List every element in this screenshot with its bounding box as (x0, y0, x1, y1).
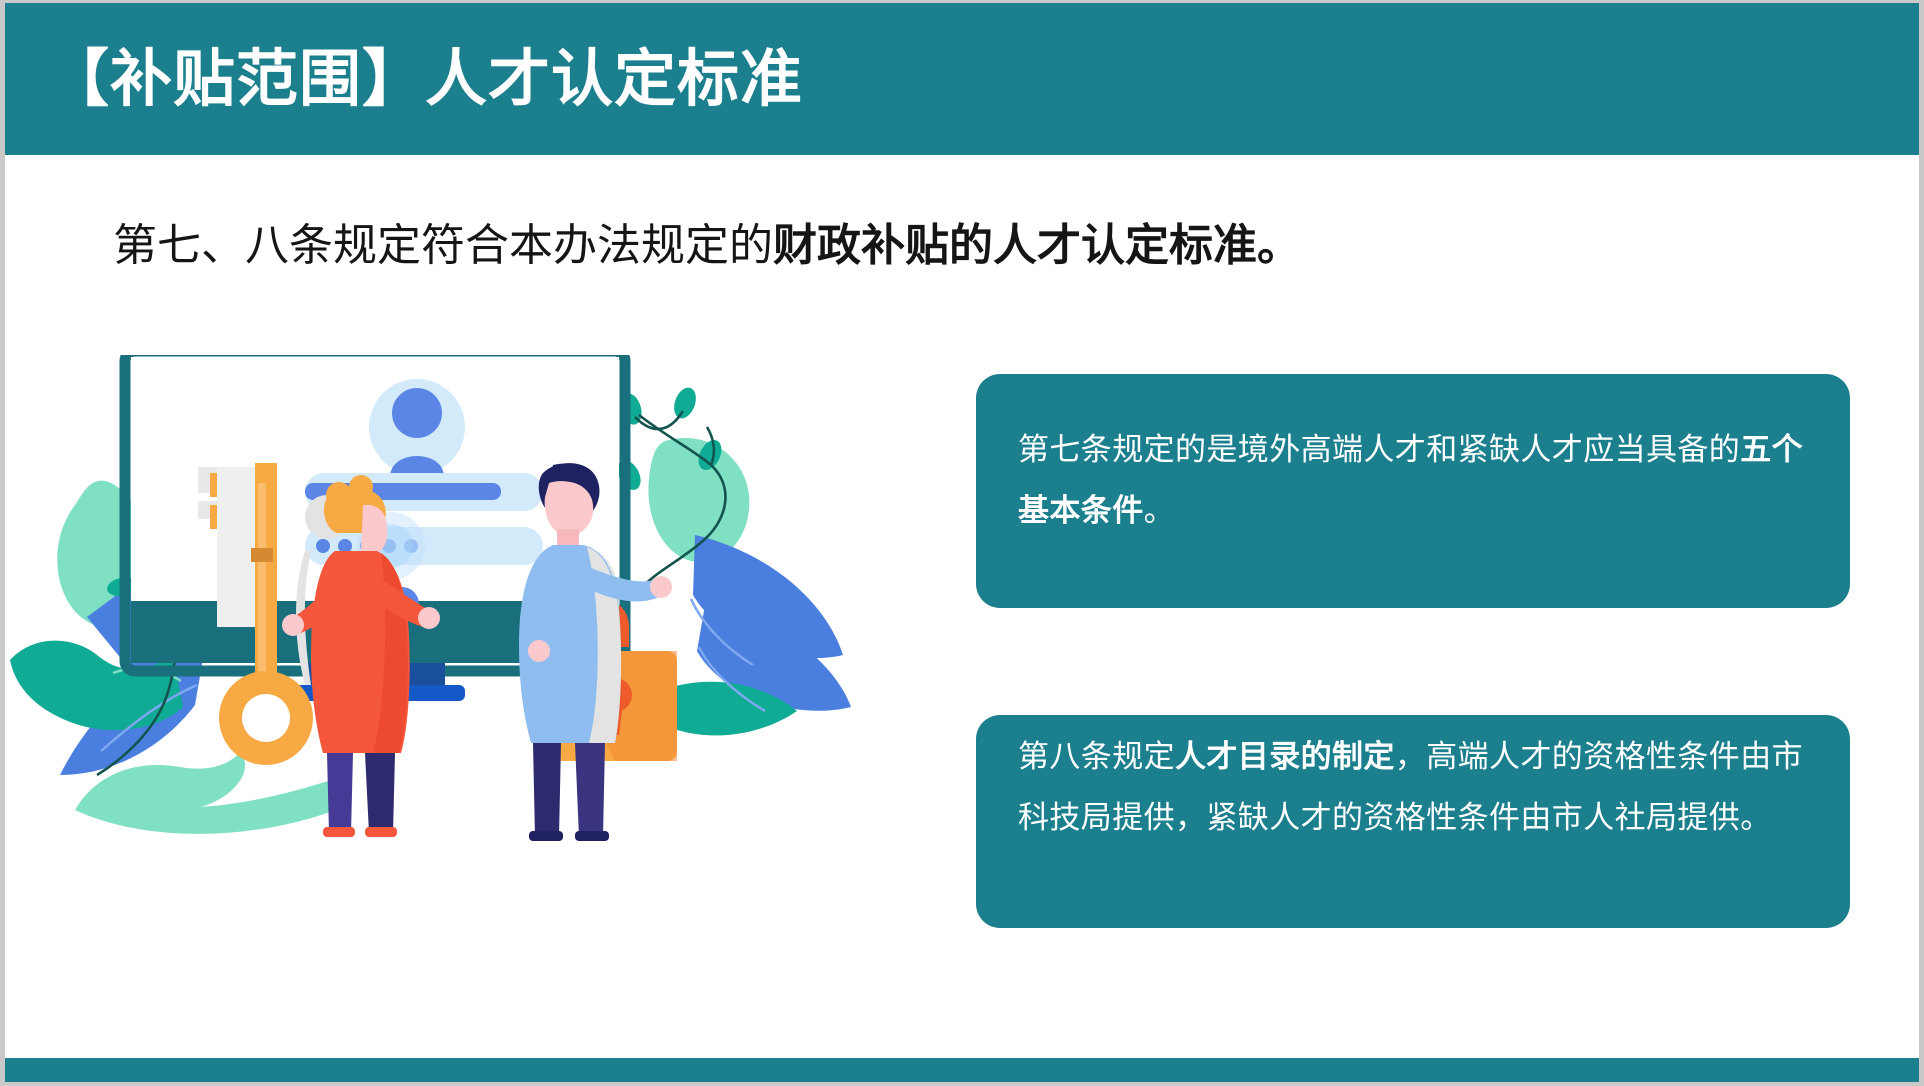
info-card-article-seven: 第七条规定的是境外高端人才和紧缺人才应当具备的五个基本条件。 (976, 374, 1850, 608)
info-card-article-eight: 第八条规定人才目录的制定，高端人才的资格性条件由市科技局提供，紧缺人才的资格性条… (976, 715, 1850, 928)
info-card-two-text: 第八条规定人才目录的制定，高端人才的资格性条件由市科技局提供，紧缺人才的资格性条… (1018, 727, 1808, 849)
info-card-one-text: 第七条规定的是境外高端人才和紧缺人才应当具备的五个基本条件。 (1018, 420, 1808, 542)
presentation-slide: 【补贴范围】人才认定标准 第七、八条规定符合本办法规定的财政补贴的人才认定标准。 (0, 0, 1924, 1086)
slide-header-bar: 【补贴范围】人才认定标准 (5, 3, 1919, 155)
card-one-plain-2: 。 (1144, 493, 1175, 529)
page-title: 【补贴范围】人才认定标准 (47, 39, 1447, 119)
subtitle-emphasis-text: 财政补贴的人才认定标准。 (773, 220, 1301, 271)
subtitle-plain-text: 第七、八条规定符合本办法规定的 (113, 220, 773, 271)
secure-login-illustration (5, 355, 915, 855)
card-two-plain-1: 第八条规定 (1018, 739, 1175, 775)
card-two-emphasis: 人才目录的制定 (1175, 739, 1395, 775)
card-one-plain-1: 第七条规定的是境外高端人才和紧缺人才应当具备的 (1018, 432, 1740, 468)
slide-footer-bar (5, 1058, 1919, 1082)
slide-subtitle: 第七、八条规定符合本办法规定的财政补贴的人才认定标准。 (113, 215, 1813, 277)
